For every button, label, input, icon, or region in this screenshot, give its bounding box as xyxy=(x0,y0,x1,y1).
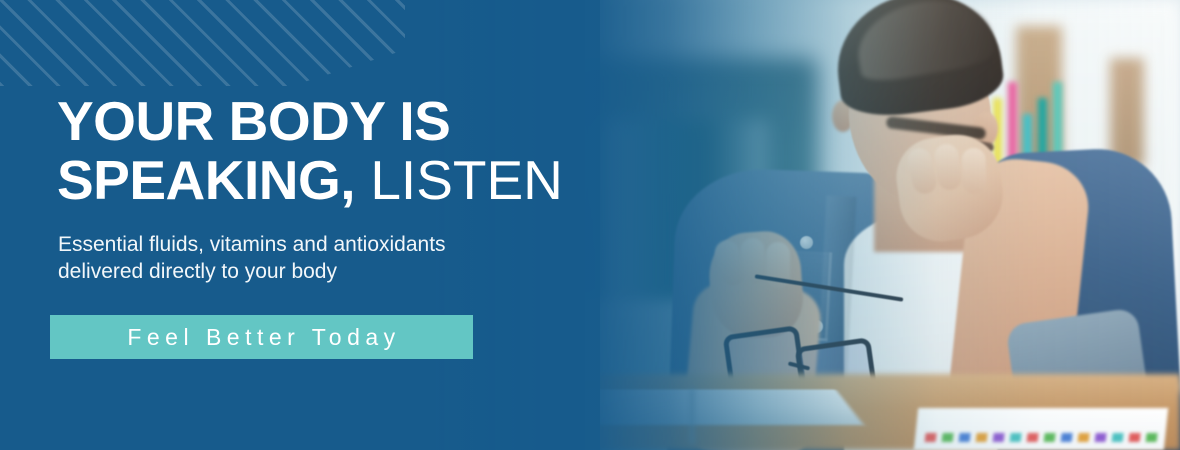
subtitle: Essential fluids, vitamins and antioxida… xyxy=(58,231,446,285)
headline-line-1: YOUR BODY IS xyxy=(57,90,450,152)
headline-line-2-light: LISTEN xyxy=(355,149,563,211)
headline-line-2-bold: SPEAKING, xyxy=(57,149,355,211)
headline: YOUR BODY IS SPEAKING, LISTEN xyxy=(57,92,563,210)
feel-better-today-button[interactable]: Feel Better Today xyxy=(50,315,473,359)
promo-banner: YOUR BODY IS SPEAKING, LISTEN Essential … xyxy=(0,0,1180,450)
banner-content: YOUR BODY IS SPEAKING, LISTEN Essential … xyxy=(57,0,677,450)
